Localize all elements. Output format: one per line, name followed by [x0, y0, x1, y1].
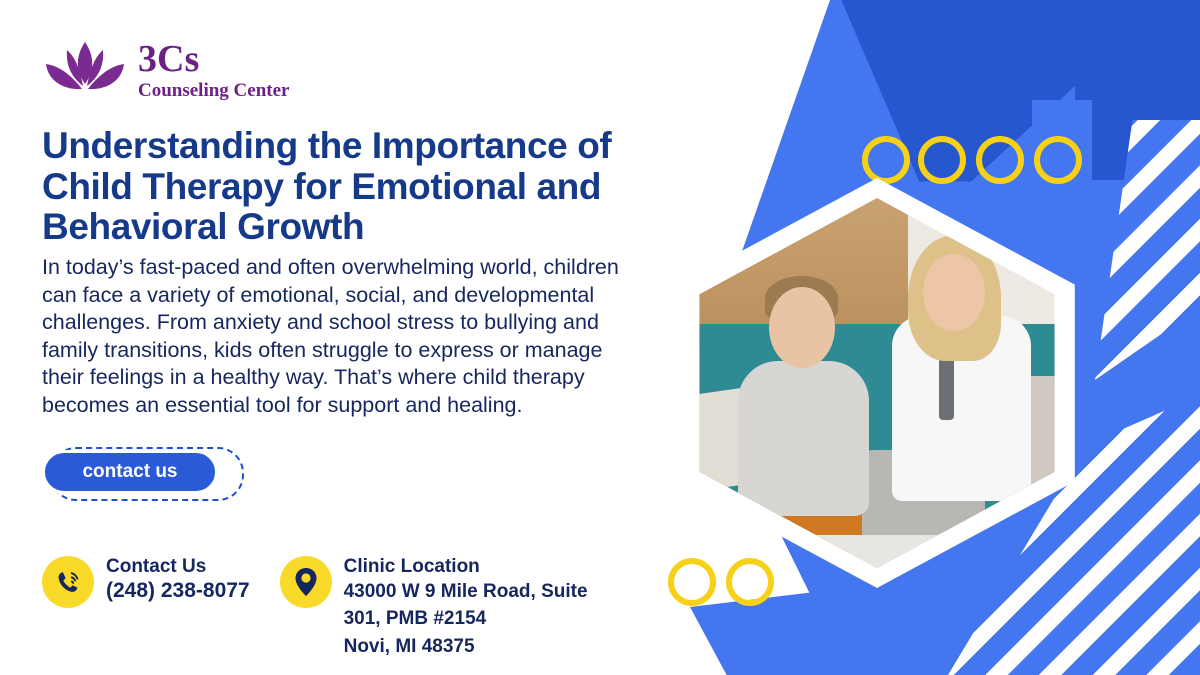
- yellow-ring-icon: [726, 558, 774, 606]
- photo-stethoscope: [939, 353, 954, 420]
- contact-location-label: Clinic Location: [344, 556, 588, 578]
- phone-icon-badge: [42, 556, 94, 608]
- yellow-ring-icon: [918, 136, 966, 184]
- content-column: 3Cs Counseling Center Understanding the …: [42, 40, 682, 499]
- contact-address-line-1: 43000 W 9 Mile Road, Suite: [344, 578, 588, 606]
- contact-us-button[interactable]: contact us: [42, 450, 218, 494]
- poster-canvas: 3Cs Counseling Center Understanding the …: [0, 0, 1200, 675]
- contact-strip: Contact Us (248) 238-8077 Clinic Locatio…: [42, 556, 588, 660]
- contact-phone-block[interactable]: Contact Us (248) 238-8077: [42, 556, 250, 660]
- brand-logo[interactable]: 3Cs Counseling Center: [42, 40, 682, 100]
- lotus-icon: [42, 40, 128, 100]
- contact-address-line-2: 301, PMB #2154: [344, 605, 588, 633]
- brand-name: 3Cs: [138, 40, 289, 78]
- brand-tagline: Counseling Center: [138, 81, 289, 100]
- location-pin-icon-badge: [280, 556, 332, 608]
- contact-phone-number[interactable]: (248) 238-8077: [106, 578, 250, 603]
- photo-therapist-head: [923, 254, 985, 332]
- yellow-ring-icon: [976, 136, 1024, 184]
- contact-phone-text: Contact Us (248) 238-8077: [106, 556, 250, 603]
- contact-location-block[interactable]: Clinic Location 43000 W 9 Mile Road, Sui…: [280, 556, 588, 660]
- yellow-ring-icon: [668, 558, 716, 606]
- yellow-ring-icon: [862, 136, 910, 184]
- yellow-ring-icon: [1034, 136, 1082, 184]
- contact-address-line-3: Novi, MI 48375: [344, 633, 588, 661]
- phone-icon: [53, 567, 83, 597]
- contact-location-text: Clinic Location 43000 W 9 Mile Road, Sui…: [344, 556, 588, 660]
- photo-boy-head: [769, 287, 835, 368]
- cta-container: contact us: [42, 447, 242, 499]
- page-title: Understanding the Importance of Child Th…: [42, 126, 682, 248]
- contact-phone-label: Contact Us: [106, 556, 250, 578]
- brand-logo-text: 3Cs Counseling Center: [138, 40, 289, 100]
- photo-boy-hoodie: [738, 361, 869, 516]
- location-pin-icon: [292, 566, 320, 598]
- body-paragraph: In today’s fast-paced and often overwhel…: [42, 254, 642, 419]
